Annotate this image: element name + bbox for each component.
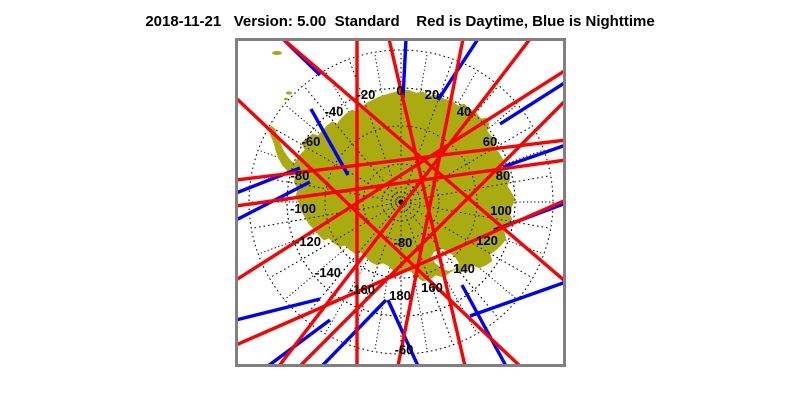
longitude-label-neg120: -120 <box>295 234 321 249</box>
longitude-label-100: 100 <box>490 203 512 218</box>
longitude-label-neg60: -60 <box>302 134 321 149</box>
longitude-label-80: 80 <box>496 168 510 183</box>
island-1 <box>272 51 282 55</box>
longitude-label-160: 160 <box>421 280 443 295</box>
longitude-label-0: 0 <box>396 83 403 98</box>
longitude-label-180: 180 <box>389 288 411 303</box>
longitude-label-neg60: -60 <box>395 342 414 357</box>
longitude-label-140: 140 <box>453 261 475 276</box>
longitude-label-neg80: -80 <box>394 235 413 250</box>
longitude-label-20: 20 <box>425 87 439 102</box>
longitude-label-neg40: -40 <box>325 104 344 119</box>
longitude-label-neg160: -160 <box>349 282 375 297</box>
polar-map-plot: 020406080100120140160180-160-140-120-100… <box>234 37 567 368</box>
longitude-label-120: 120 <box>476 233 498 248</box>
longitude-label-neg20: -20 <box>357 87 376 102</box>
antarctica-polar-svg: 020406080100120140160180-160-140-120-100… <box>234 37 567 368</box>
longitude-label-60: 60 <box>483 134 497 149</box>
longitude-label-neg140: -140 <box>315 265 341 280</box>
figure-canvas: 2018-11-21 Version: 5.00 Standard Red is… <box>0 0 800 400</box>
longitude-label-neg100: -100 <box>290 201 316 216</box>
island-2 <box>286 91 292 94</box>
island-3 <box>284 98 288 101</box>
figure-title: 2018-11-21 Version: 5.00 Standard Red is… <box>0 13 800 30</box>
longitude-label-40: 40 <box>457 104 471 119</box>
longitude-label-neg80: -80 <box>291 168 310 183</box>
